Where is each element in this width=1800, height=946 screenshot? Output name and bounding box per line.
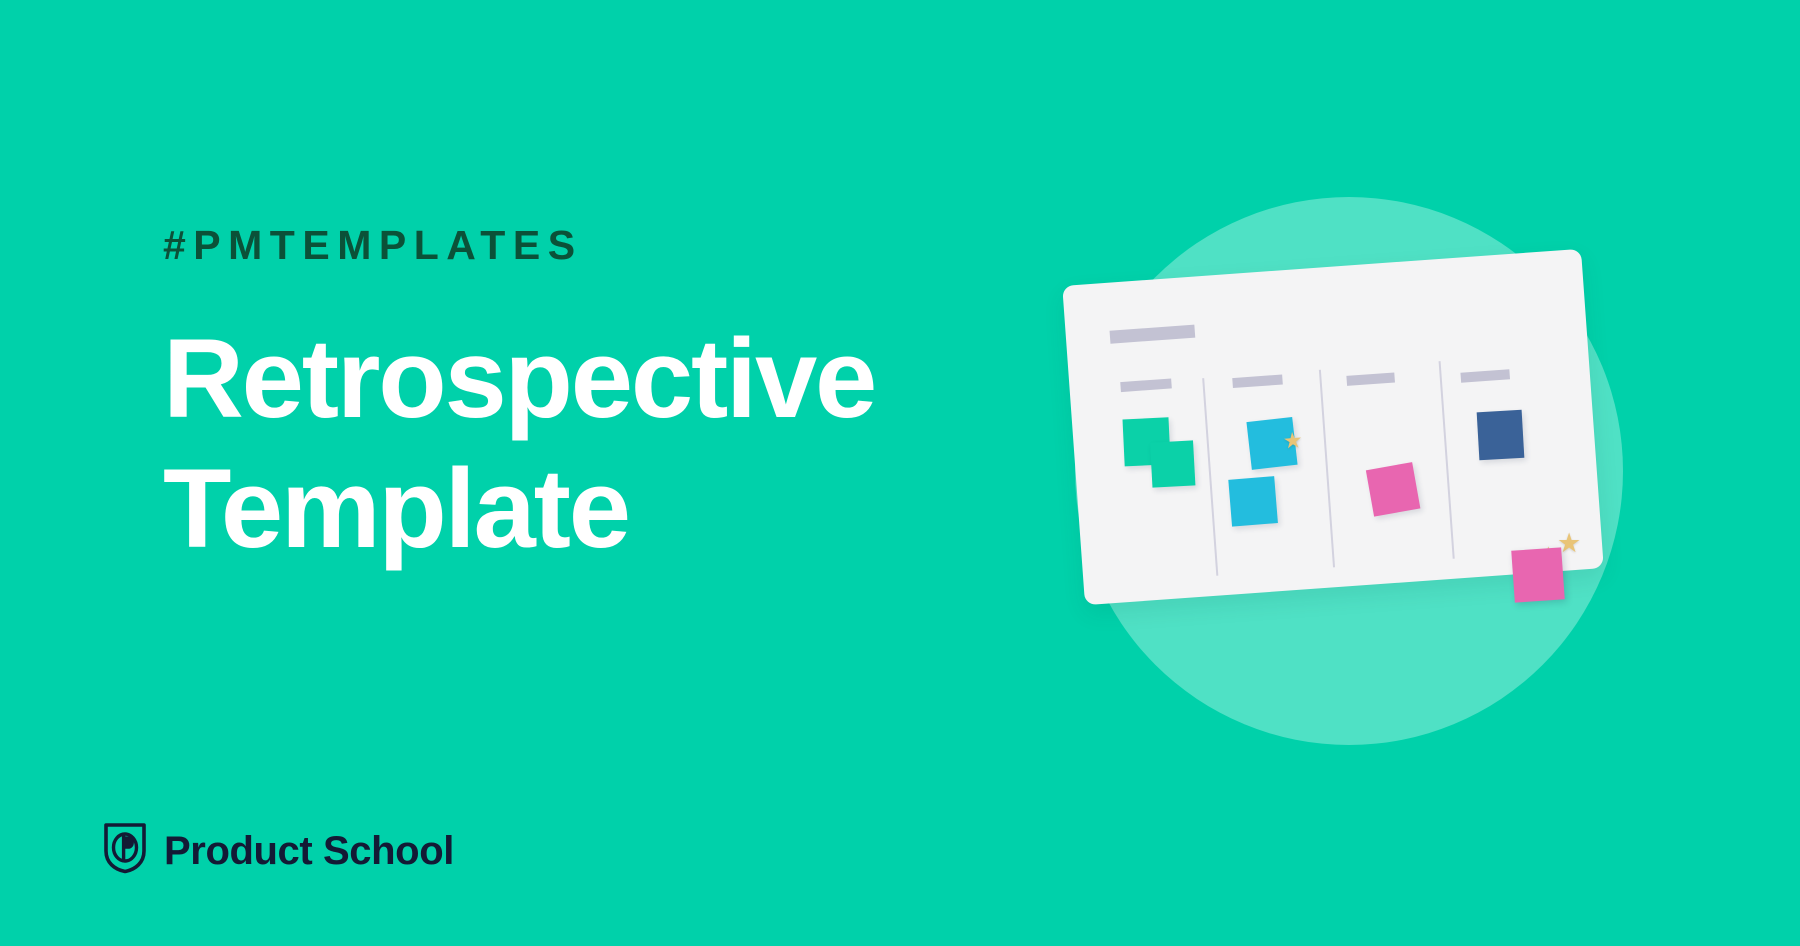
- retrospective-board-illustration: ★ ★ ★: [1065, 175, 1650, 755]
- column-divider-2: [1319, 370, 1335, 568]
- sticky-note-blue-2[interactable]: [1228, 476, 1278, 527]
- hero-banner: #PMTEMPLATES Retrospective Template Prod…: [0, 0, 1800, 946]
- page-title: Retrospective Template: [163, 314, 983, 574]
- sticky-note-navy-1[interactable]: [1477, 410, 1525, 461]
- column-header-3: [1346, 372, 1395, 385]
- product-school-logo[interactable]: Product School: [103, 822, 454, 879]
- product-school-shield-icon: [103, 822, 147, 879]
- hero-text-block: #PMTEMPLATES Retrospective Template: [163, 225, 983, 574]
- star-icon-1: ★: [1282, 429, 1303, 452]
- hashtag-eyebrow: #PMTEMPLATES: [163, 225, 983, 266]
- column-header-2: [1232, 375, 1283, 389]
- column-divider-1: [1202, 378, 1218, 576]
- sticky-note-pink-1[interactable]: [1366, 462, 1421, 517]
- product-school-wordmark: Product School: [164, 831, 454, 871]
- column-header-4: [1460, 369, 1510, 382]
- sticky-note-pink-corner[interactable]: [1511, 547, 1565, 602]
- page-title-line-2: Template: [163, 444, 983, 574]
- column-header-1: [1120, 378, 1172, 392]
- sticky-note-green-2[interactable]: [1150, 440, 1195, 487]
- column-divider-3: [1439, 361, 1455, 559]
- page-title-line-1: Retrospective: [163, 314, 983, 444]
